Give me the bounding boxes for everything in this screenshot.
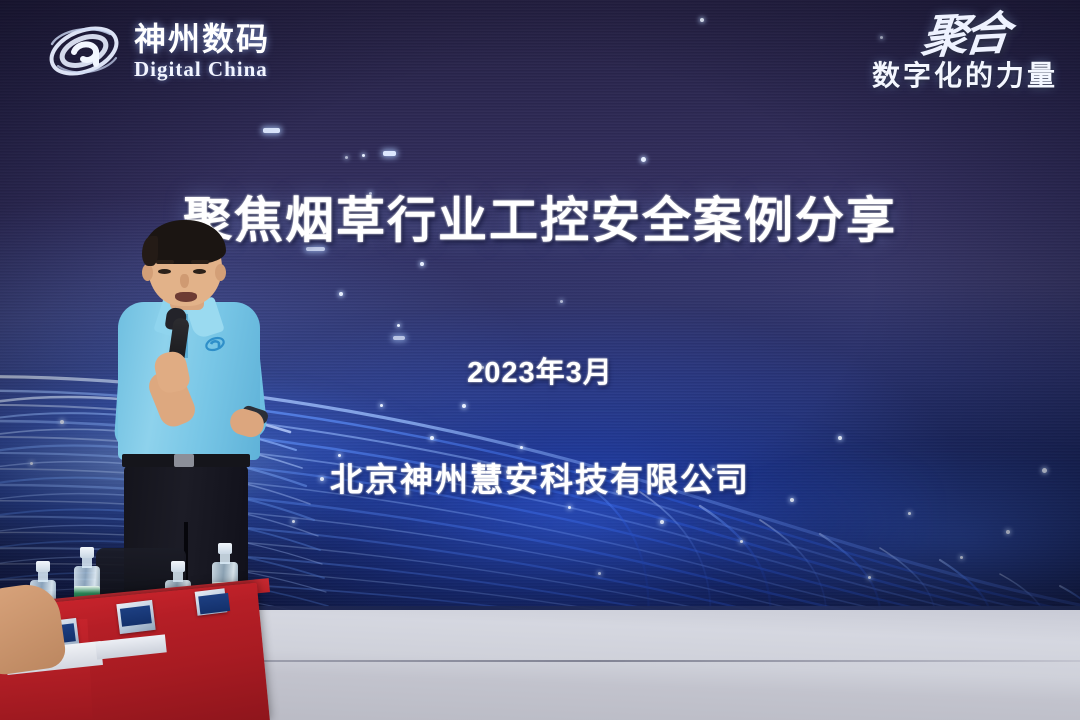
digital-china-swirl-icon bbox=[44, 18, 124, 84]
bottle-cap bbox=[80, 547, 94, 558]
bottle-cap bbox=[36, 561, 50, 572]
speaker-eye-left bbox=[158, 269, 171, 274]
digital-china-english: Digital China bbox=[134, 59, 270, 80]
speaker-ear-left bbox=[142, 264, 153, 281]
digital-china-chinese: 神州数码 bbox=[134, 23, 270, 55]
event-logo: 聚合 数字化的力量 bbox=[872, 14, 1058, 94]
digital-china-logo: 神州数码 Digital China bbox=[44, 18, 270, 84]
bottle-cap bbox=[171, 561, 185, 572]
speaker-nose bbox=[180, 274, 189, 288]
speaker-eye-right bbox=[193, 269, 206, 274]
speaker-brow-right bbox=[191, 260, 209, 264]
name-card-panel bbox=[120, 605, 152, 627]
digital-china-wordmark: 神州数码 Digital China bbox=[134, 23, 270, 80]
speaker-belt-buckle bbox=[174, 454, 194, 467]
name-card bbox=[195, 588, 228, 615]
event-logo-calligraphy: 聚合 bbox=[919, 12, 1008, 60]
speaker-shirt-logo-icon bbox=[204, 334, 226, 354]
bottle-cap bbox=[218, 543, 232, 554]
name-card-panel bbox=[198, 593, 230, 615]
speaker-mouth bbox=[175, 292, 197, 302]
speaker-ear-right bbox=[215, 264, 226, 281]
name-card bbox=[116, 600, 155, 634]
speaker-brow-left bbox=[156, 260, 174, 264]
conference-photo: 神州数码 Digital China 聚合 数字化的力量 聚焦烟草行业工控安全案… bbox=[0, 0, 1080, 720]
